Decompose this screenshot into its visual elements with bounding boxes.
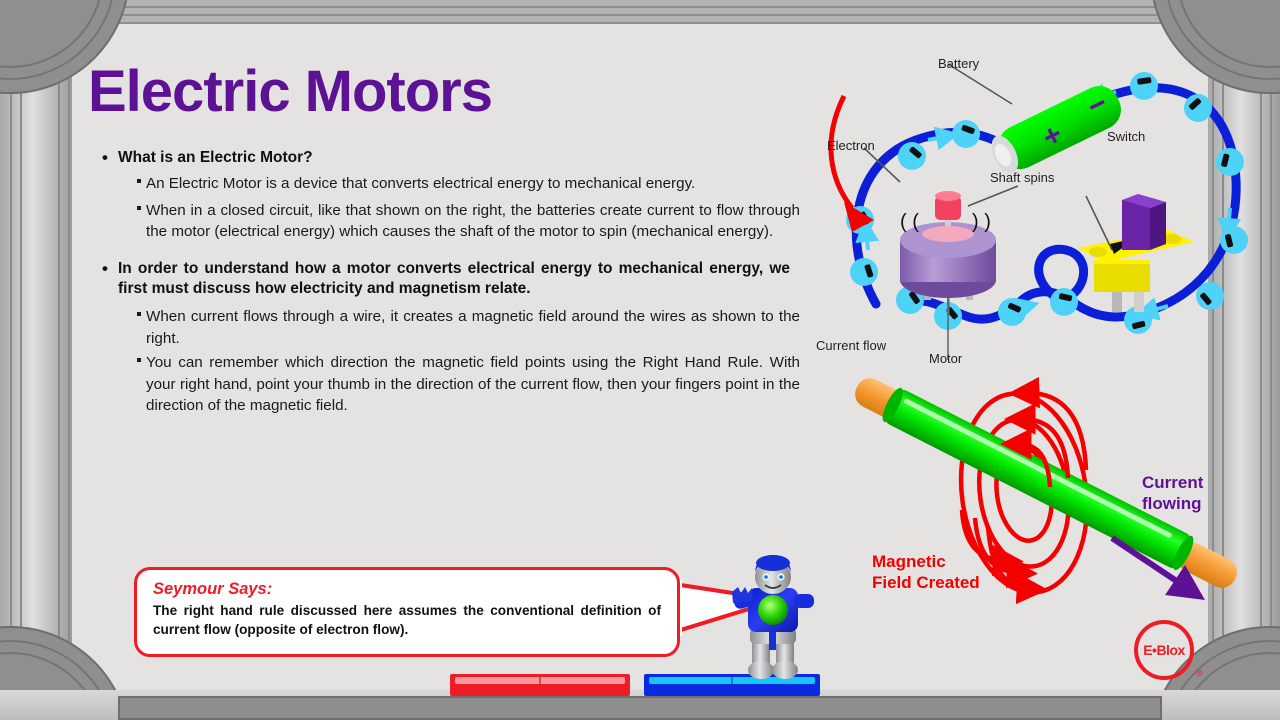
label-shaft-spins: Shaft spins [990,170,1054,185]
bullet-level1: • What is an Electric Motor? [100,148,800,168]
eblox-logo-text: E•Blox [1143,642,1185,658]
callout-text: The right hand rule discussed here assum… [153,602,661,640]
bullet-text: When current flows through a wire, it cr… [146,308,800,347]
bullet-square-icon [137,179,141,183]
bullet-square-icon [137,358,141,362]
slide-canvas: Electric Motors • What is an Electric Mo… [0,0,1280,720]
body-text-block: • What is an Electric Motor? An Electric… [100,148,800,417]
bullet-dot-icon: • [102,259,108,279]
callout-heading: Seymour Says: [153,580,661,599]
bullet-level2: You can remember which direction the mag… [100,352,800,417]
bullet-level2: An Electric Motor is a device that conve… [100,173,800,195]
frame-rule-top-2 [72,14,1208,16]
frame-bottom-plinth [118,696,1162,720]
bullet-square-icon [137,206,141,210]
svg-text:) ): ) ) [972,211,991,233]
decor-brick-red [450,674,630,696]
bullet-square-icon [137,312,141,316]
bullet-text: An Electric Motor is a device that conve… [146,175,695,192]
frame-column-left [0,0,72,720]
frame-rule-top-3 [62,22,1218,24]
page-title: Electric Motors [88,58,492,125]
circuit-diagram: + − ( ( ) ) [816,44,1280,374]
label-current-flowing: Current flowing [1142,472,1203,515]
seymour-says-callout: Seymour Says: The right hand rule discus… [134,567,680,657]
label-electron: Electron [827,138,875,153]
label-current-flow: Current flow [816,338,886,353]
eblox-logo: E•Blox [1134,620,1194,680]
frame-rule-top-1 [72,6,1208,8]
bullet-level2: When current flows through a wire, it cr… [100,306,800,349]
bullet-text: When in a closed circuit, like that show… [146,202,800,241]
label-switch: Switch [1107,129,1145,144]
bullet-text: You can remember which direction the mag… [146,354,800,414]
bullet-dot-icon: • [102,148,108,168]
seymour-robot-mascot [726,552,822,684]
leader-shaft [968,186,1018,206]
svg-text:( (: ( ( [900,211,919,233]
label-battery: Battery [938,56,979,71]
label-magnetic-field-created: Magnetic Field Created [872,551,980,594]
eblox-logo-trademark: ® [1196,668,1203,678]
bullet-level2: When in a closed circuit, like that show… [100,200,800,243]
bullet-text: In order to understand how a motor conve… [118,260,790,297]
bullet-text: What is an Electric Motor? [118,149,313,166]
bullet-level1: • In order to understand how a motor con… [100,259,790,299]
